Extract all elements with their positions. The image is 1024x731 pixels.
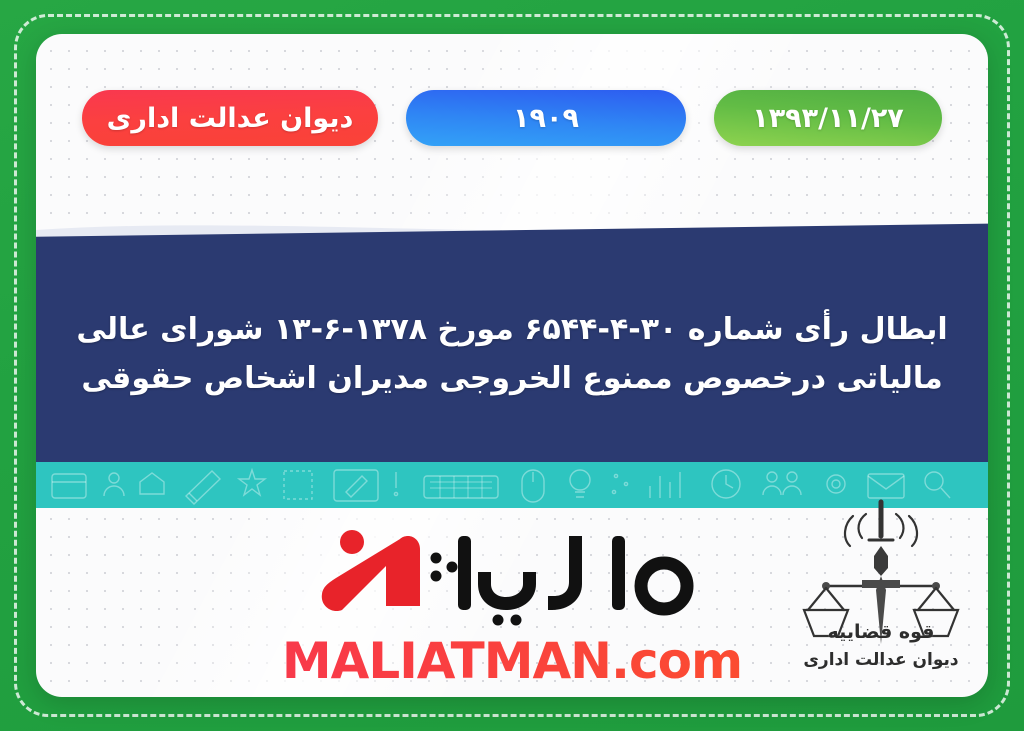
page-title-line-1: ابطال رأی شماره ۳۰-۴-۶۵۴۴ مورخ ۱۳۷۸-۶-۱۳…	[76, 306, 947, 355]
badge-date[interactable]: ۱۳۹۳/۱۱/۲۷	[714, 90, 942, 146]
emblem-caption-judiciary: قوه قضاییه	[796, 621, 966, 643]
judiciary-emblem: قوه قضاییه دیوان عدالت اداری	[796, 494, 966, 697]
emblem-caption-court: دیوان عدالت اداری	[796, 650, 966, 670]
badge-case-number[interactable]: ۱۹۰۹	[406, 90, 686, 146]
title-band: ابطال رأی شماره ۳۰-۴-۶۵۴۴ مورخ ۱۳۷۸-۶-۱۳…	[36, 248, 988, 462]
badge-court[interactable]: دیوان عدالت اداری	[82, 90, 378, 146]
logo-letters-black	[390, 536, 687, 626]
poster-canvas: دیوان عدالت اداری ۱۹۰۹ ۱۳۹۳/۱۱/۲۷ ابطال …	[0, 0, 1024, 731]
brand-area: MALIATMAN.com	[36, 508, 988, 697]
content-card: دیوان عدالت اداری ۱۹۰۹ ۱۳۹۳/۱۱/۲۷ ابطال …	[36, 34, 988, 697]
page-title-line-2: مالیاتی درخصوص ممنوع الخروجی مدیران اشخا…	[81, 355, 942, 404]
badge-row: دیوان عدالت اداری ۱۹۰۹ ۱۳۹۳/۱۱/۲۷	[36, 90, 988, 146]
